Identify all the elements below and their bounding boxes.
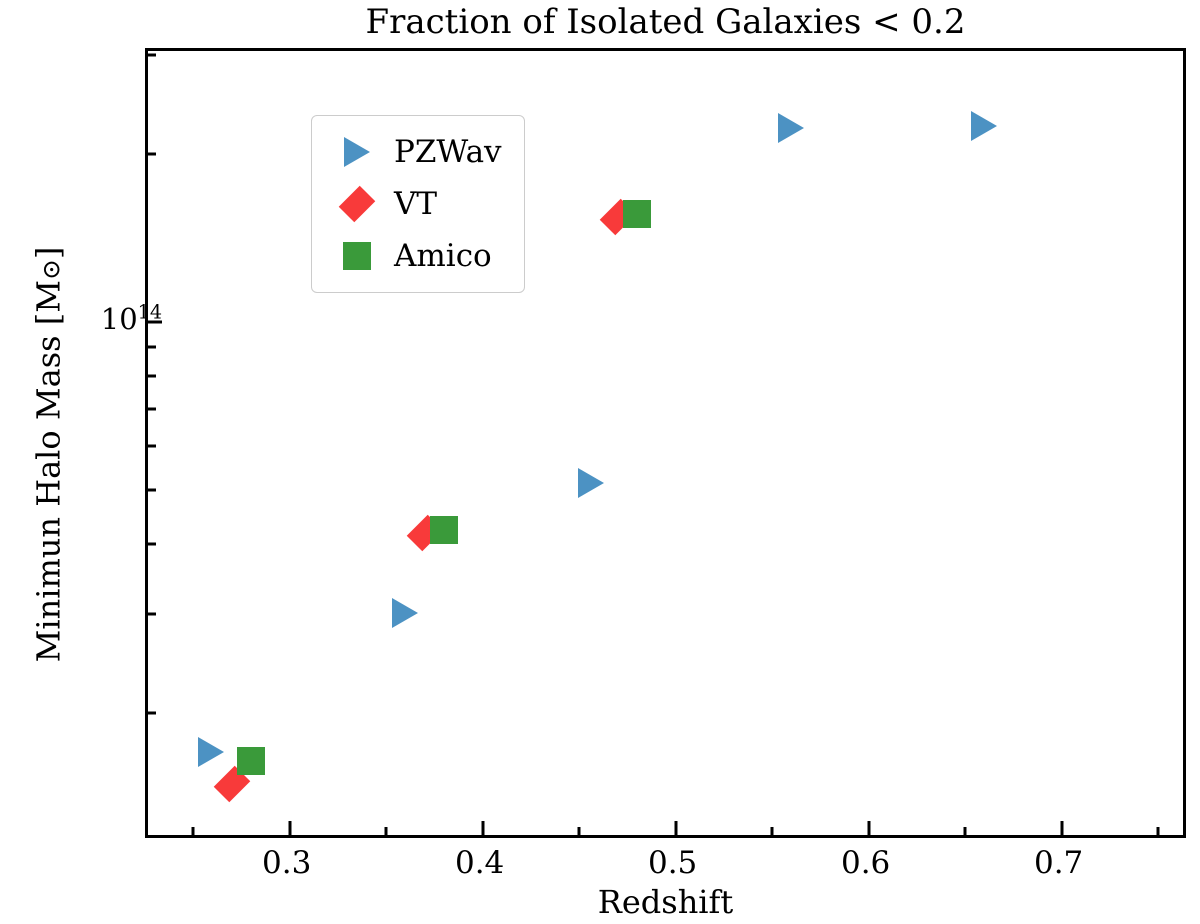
right-triangle-icon: [326, 137, 388, 167]
legend-label-vt: VT: [388, 187, 437, 221]
square-icon: [237, 747, 265, 775]
y-tick-label: 1014: [101, 303, 162, 335]
right-triangle-icon: [198, 737, 224, 767]
square-icon: [326, 242, 388, 270]
data-layer: [148, 51, 1183, 835]
x-axis-label: Redshift: [145, 884, 1186, 920]
y-axis-label-prefix: Minimun Halo Mass [M: [30, 280, 68, 662]
x-tick-label: 0.6: [841, 846, 890, 880]
square-icon: [430, 516, 458, 544]
diamond-icon: [326, 193, 388, 215]
legend-item-pzwav[interactable]: PZWav: [326, 126, 502, 178]
right-triangle-icon: [392, 598, 418, 628]
legend-item-vt[interactable]: VT: [326, 178, 502, 230]
x-tick-label: 0.3: [262, 846, 311, 880]
right-triangle-icon: [971, 111, 997, 141]
x-tick-label: 0.4: [455, 846, 504, 880]
legend-label-amico: Amico: [388, 239, 492, 273]
legend-item-amico[interactable]: Amico: [326, 230, 502, 282]
solar-mass-symbol: ⊙: [37, 259, 66, 280]
x-tick-label: 0.5: [648, 846, 697, 880]
legend-box[interactable]: PZWav VT Amico: [311, 115, 525, 293]
figure-canvas: Fraction of Isolated Galaxies < 0.2 Mini…: [0, 0, 1200, 924]
y-tick-label-exponent: 14: [138, 300, 162, 323]
right-triangle-icon: [578, 468, 604, 498]
legend-label-pzwav: PZWav: [388, 135, 502, 169]
square-icon: [623, 200, 651, 228]
page-title: Fraction of Isolated Galaxies < 0.2: [145, 2, 1186, 42]
y-axis-label-suffix: ]: [30, 247, 68, 259]
y-axis-label: Minimun Halo Mass [M⊙]: [31, 60, 70, 850]
right-triangle-icon: [778, 113, 804, 143]
y-tick-label-base: 10: [101, 302, 138, 336]
x-tick-label: 0.7: [1034, 846, 1083, 880]
plot-area: PZWav VT Amico: [145, 48, 1186, 838]
